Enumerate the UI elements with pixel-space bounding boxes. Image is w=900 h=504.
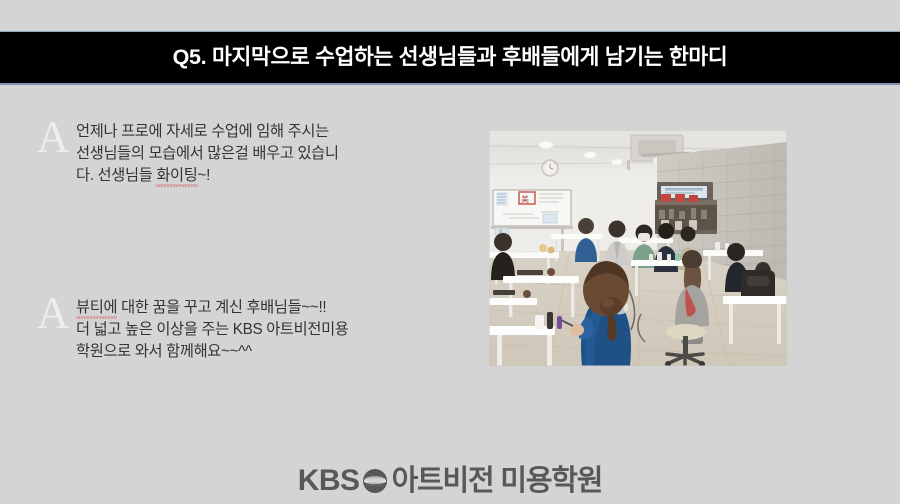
answer-marker-1: A [30,116,76,159]
slide-title: Q5. 마지막으로 수업하는 선생님들과 후배들에게 남기는 한마디 [173,47,728,69]
answer-line: 더 넓고 높은 이상을 주는 KBS 아트비전미용 [76,319,450,341]
answer-text-post: 대한 꿈을 꾸고 계신 후배님들~~!! [117,299,326,316]
logo-kbs-text: KBS [298,466,360,496]
logo-korean-text: 아트비전 미용학원 [392,467,603,496]
spellcheck-text: 화이팅 [156,167,197,187]
answer-text-pre: 언제나 프로에 자세로 수업에 임해 주시는 [76,123,329,140]
slide-canvas: Q5. 마지막으로 수업하는 선생님들과 후배들에게 남기는 한마디 A 언제나… [0,0,900,504]
answer-line: 선생님들의 모습에서 많은걸 배우고 있습니 [76,143,450,165]
answer-line: 언제나 프로에 자세로 수업에 임해 주시는 [76,121,450,143]
classroom-photo-image: 美 [489,130,787,366]
answer-text-pre: 선생님들의 모습에서 많은걸 배우고 있습니 [76,145,339,162]
answer-text-pre: 학원으로 와서 함께해요~~^^ [76,343,252,360]
answer-line: 다. 선생님들 화이팅~! [76,165,450,187]
answer-text-1: 언제나 프로에 자세로 수업에 임해 주시는 선생님들의 모습에서 많은걸 배우… [76,116,450,187]
answer-block-2: A 뷰티에 대한 꿈을 꾸고 계신 후배님들~~!! 더 넓고 높은 이상을 주… [30,292,450,363]
footer-logo: KBS 아트비전 미용학원 [0,466,900,496]
answer-marker-2: A [30,292,76,335]
answer-block-1: A 언제나 프로에 자세로 수업에 임해 주시는 선생님들의 모습에서 많은걸 … [30,116,450,187]
svg-text:美: 美 [521,194,529,204]
answer-line: 학원으로 와서 함께해요~~^^ [76,341,450,363]
slide-title-bar: Q5. 마지막으로 수업하는 선생님들과 후배들에게 남기는 한마디 [0,31,900,85]
answer-line: 뷰티에 대한 꿈을 꾸고 계신 후배님들~~!! [76,297,450,319]
spellcheck-text: 뷰티에 [76,299,117,319]
answer-text-post: ~! [198,167,210,184]
answer-text-pre: 다. 선생님들 [76,167,156,184]
answer-text-2: 뷰티에 대한 꿈을 꾸고 계신 후배님들~~!! 더 넓고 높은 이상을 주는 … [76,292,450,363]
globe-icon [362,468,388,494]
classroom-photo: 美 [489,130,787,366]
answer-text-pre: 더 넓고 높은 이상을 주는 KBS 아트비전미용 [76,321,349,338]
